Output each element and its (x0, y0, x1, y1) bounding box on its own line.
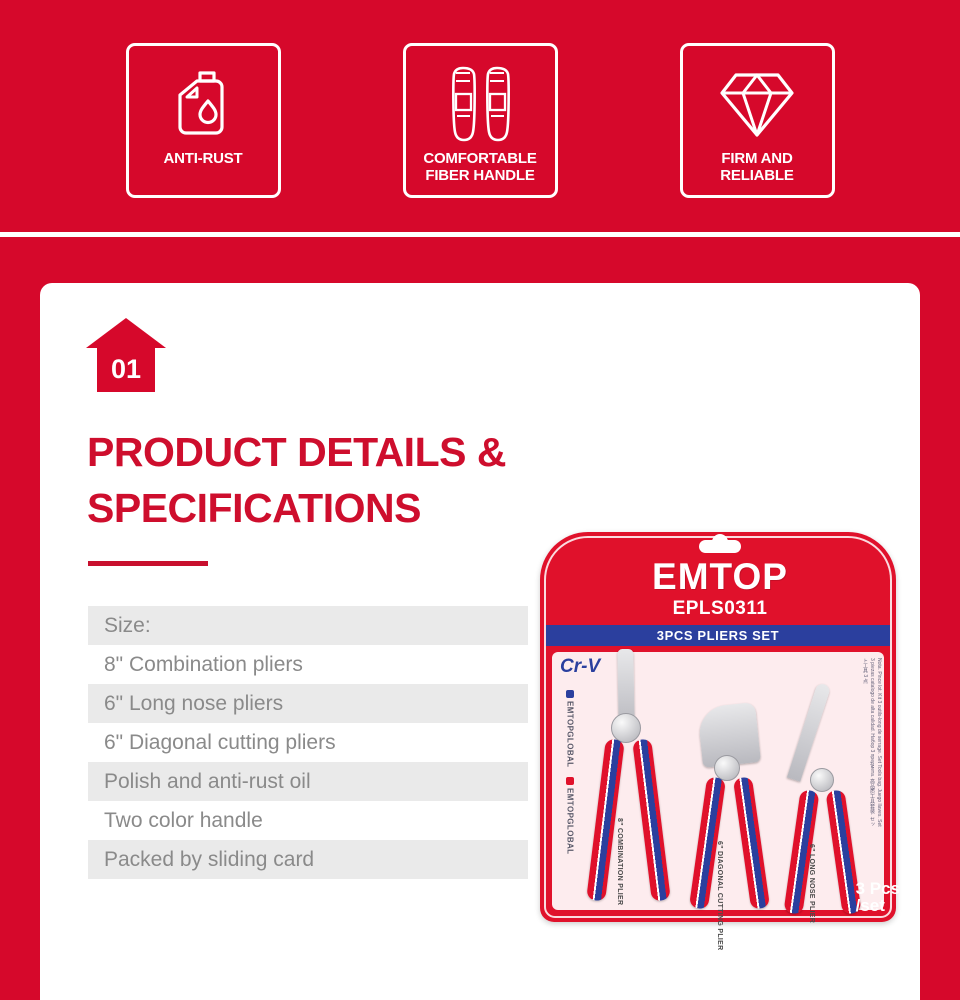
social-handle-youtube: EMTOPGLOBAL (562, 777, 578, 854)
feature-badge-anti-rust: ANTI-RUST (126, 43, 281, 198)
fiber-handle-icon (441, 62, 519, 146)
pack-set-band: 3PCS PLIERS SET (546, 625, 890, 646)
list-item: 8" Combination pliers (88, 645, 528, 684)
section-number-badge: 01 (86, 318, 166, 392)
tool-label: 6" LONG NOSE PLIER (808, 844, 815, 923)
plier-pivot (810, 768, 834, 792)
banner-divider (0, 232, 960, 237)
youtube-icon (566, 777, 574, 785)
title-underline (88, 561, 208, 566)
plier-pivot (611, 713, 641, 743)
tool-diagonal-cutting-plier: 6" DIAGONAL CUTTING PLIER (692, 763, 774, 913)
feature-badge-label: ANTI-RUST (129, 150, 277, 167)
pack-brand-logo: EMTOP (530, 556, 910, 598)
oil-can-icon (170, 62, 236, 146)
tool-long-nose-plier: 6" LONG NOSE PLIER (786, 778, 866, 918)
list-item: 6" Diagonal cutting pliers (88, 723, 528, 762)
material-badge: Cr-V (560, 656, 600, 678)
section-number: 01 (97, 347, 155, 392)
specification-list: Size: 8" Combination pliers 6" Long nose… (88, 606, 528, 879)
product-image: EMTOP EPLS0311 3PCS PLIERS SET Cr-V EMTO… (530, 528, 910, 938)
page-title: PRODUCT DETAILS & SPECIFICATIONS (87, 424, 607, 536)
list-item: 6" Long nose pliers (88, 684, 528, 723)
blister-pack: EMTOP EPLS0311 3PCS PLIERS SET Cr-V EMTO… (530, 528, 910, 928)
feature-banner: ANTI-RUST COMFORTABLEFIBER HANDLE (0, 0, 960, 232)
product-detail-page: ANTI-RUST COMFORTABLEFIBER HANDLE (0, 0, 960, 1000)
pack-model-number: EPLS0311 (530, 598, 910, 620)
list-item: Two color handle (88, 801, 528, 840)
feature-badge-fiber-handle: COMFORTABLEFIBER HANDLE (403, 43, 558, 198)
facebook-icon (566, 690, 574, 698)
plier-handle-right (632, 738, 671, 901)
tool-label: 8" COMBINATION PLIER (616, 818, 623, 905)
pcs-count-badge: 3 Pcs /set (856, 880, 900, 914)
plier-handle-right (733, 776, 770, 909)
feature-badge-firm-reliable: FIRM ANDRELIABLE (680, 43, 835, 198)
feature-badge-label: COMFORTABLEFIBER HANDLE (406, 150, 554, 184)
house-roof-shape (86, 318, 166, 348)
feature-badge-list: ANTI-RUST COMFORTABLEFIBER HANDLE (0, 43, 960, 198)
tool-label: 6" DIAGONAL CUTTING PLIER (716, 841, 723, 950)
list-item: Polish and anti-rust oil (88, 762, 528, 801)
pcs-count-line2: /set (856, 896, 885, 915)
feature-badge-label: FIRM ANDRELIABLE (683, 150, 831, 184)
diamond-icon (716, 62, 798, 146)
list-item: Packed by sliding card (88, 840, 528, 879)
list-item: Size: (88, 606, 528, 645)
social-handles: EMTOPGLOBAL EMTOPGLOBAL (562, 690, 578, 855)
social-handle-facebook: EMTOPGLOBAL (562, 690, 578, 767)
tool-combination-plier: 8" COMBINATION PLIER (590, 723, 678, 908)
hang-hole (699, 540, 741, 553)
content-card: 01 PRODUCT DETAILS & SPECIFICATIONS Size… (40, 283, 920, 1000)
